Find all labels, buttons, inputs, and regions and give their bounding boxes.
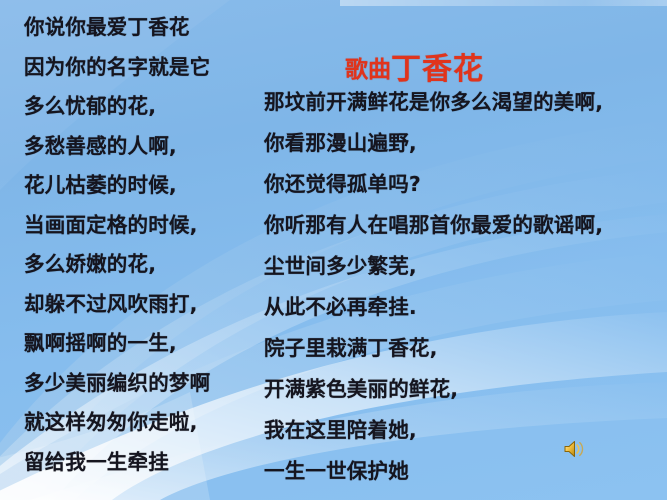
lyric-line: 花儿枯萎的时候, <box>24 166 264 206</box>
lyrics-column-left: 你说你最爱丁香花 因为你的名字就是它 多么忧郁的花, 多愁善感的人啊, 花儿枯萎… <box>24 8 264 482</box>
lyric-line: 院子里栽满丁香花, <box>264 328 664 369</box>
song-title-name: 丁香花 <box>391 52 484 87</box>
presentation-slide: 歌曲丁香花 你说你最爱丁香花 因为你的名字就是它 多么忧郁的花, 多愁善感的人啊… <box>0 0 667 500</box>
lyric-line: 你看那漫山遍野, <box>264 123 664 164</box>
lyric-line: 你听那有人在唱那首你最爱的歌谣啊, <box>264 205 664 246</box>
lyric-line: 尘世间多少繁芜, <box>264 246 664 287</box>
lyric-line: 我在这里陪着她, <box>264 410 664 451</box>
song-title: 歌曲丁香花 <box>345 44 484 88</box>
lyric-line: 一生一世保护她 <box>264 451 664 492</box>
lyric-line: 从此不必再牵挂. <box>264 287 664 328</box>
speaker-icon[interactable] <box>562 437 588 461</box>
song-title-prefix: 歌曲 <box>345 57 391 83</box>
lyric-line: 飘啊摇啊的一生, <box>24 324 264 364</box>
lyric-line: 留给我一生牵挂 <box>24 443 264 483</box>
lyric-line: 多么娇嫩的花, <box>24 245 264 285</box>
lyric-line: 你还觉得孤单吗? <box>264 164 664 205</box>
lyric-line: 开满紫色美丽的鲜花, <box>264 369 664 410</box>
lyric-line: 多愁善感的人啊, <box>24 127 264 167</box>
lyric-line: 多么忧郁的花, <box>24 87 264 127</box>
lyric-line: 那坟前开满鲜花是你多么渴望的美啊, <box>264 82 664 123</box>
lyric-line: 你说你最爱丁香花 <box>24 8 264 48</box>
top-highlight-strip <box>340 0 667 6</box>
lyrics-column-right: 那坟前开满鲜花是你多么渴望的美啊, 你看那漫山遍野, 你还觉得孤单吗? 你听那有… <box>264 82 664 492</box>
lyric-line: 因为你的名字就是它 <box>24 48 264 88</box>
lyric-line: 当画面定格的时候, <box>24 206 264 246</box>
lyric-line: 却躲不过风吹雨打, <box>24 285 264 325</box>
lyric-line: 就这样匆匆你走啦, <box>24 403 264 443</box>
lyric-line: 多少美丽编织的梦啊 <box>24 364 264 404</box>
